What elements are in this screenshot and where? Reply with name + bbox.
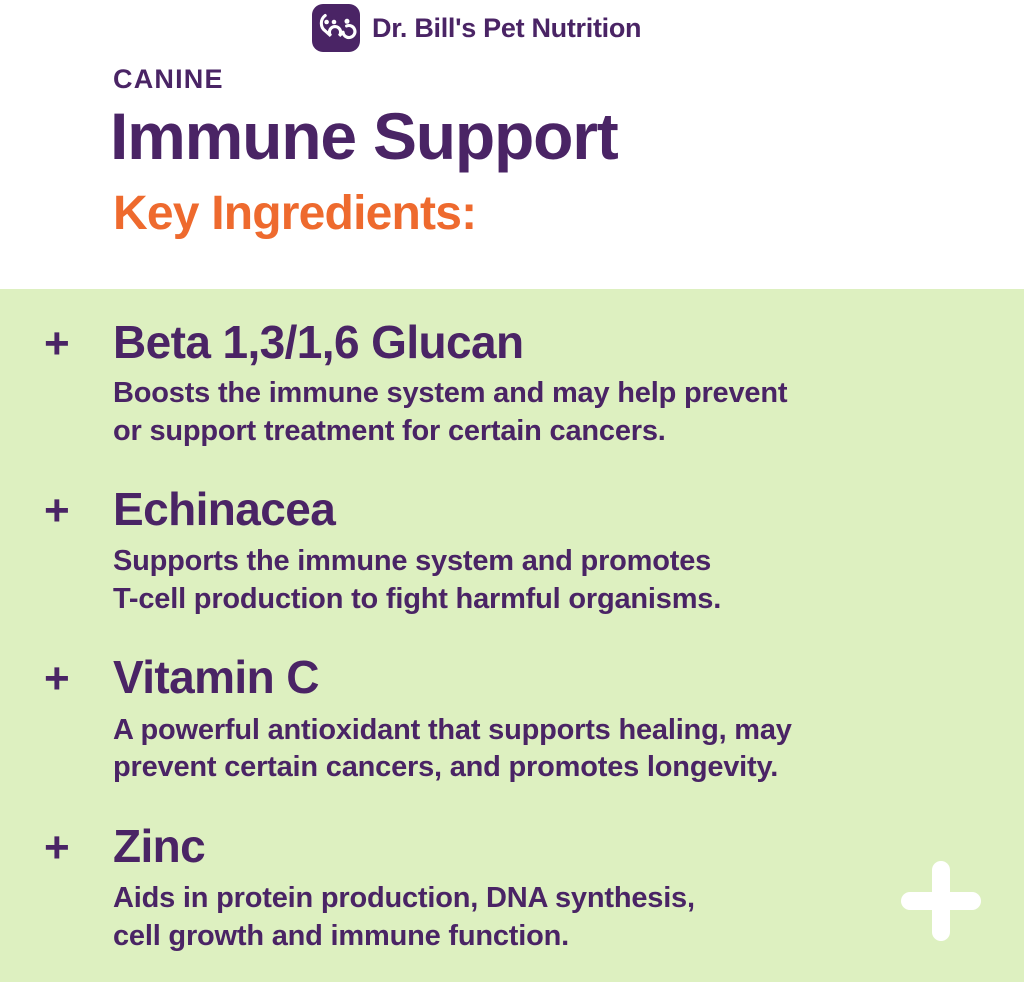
description-line: Aids in protein production, DNA synthesi… bbox=[113, 880, 1013, 918]
header-section: Dr. Bill's Pet Nutrition CANINE Immune S… bbox=[0, 0, 1024, 289]
plus-bullet-icon: + bbox=[44, 826, 88, 870]
description-line: Boosts the immune system and may help pr… bbox=[113, 375, 1013, 413]
ingredient-description: Aids in protein production, DNA synthesi… bbox=[113, 880, 1013, 955]
plus-horizontal-bar bbox=[901, 892, 981, 910]
ingredient-description: Boosts the immune system and may help pr… bbox=[113, 375, 1013, 450]
infographic-page: Dr. Bill's Pet Nutrition CANINE Immune S… bbox=[0, 0, 1024, 982]
description-line: Supports the immune system and promotes bbox=[113, 543, 1013, 581]
plus-bullet-icon: + bbox=[44, 657, 88, 701]
list-item: + Zinc Aids in protein production, DNA s… bbox=[0, 822, 1024, 956]
ingredient-heading-row: + Echinacea bbox=[44, 485, 1024, 533]
plus-bullet-icon: + bbox=[44, 322, 88, 366]
ingredients-panel: + Beta 1,3/1,6 Glucan Boosts the immune … bbox=[0, 289, 1024, 982]
brand-name: Dr. Bill's Pet Nutrition bbox=[372, 15, 641, 42]
ingredient-name: Zinc bbox=[113, 822, 205, 870]
ingredient-name: Beta 1,3/1,6 Glucan bbox=[113, 318, 523, 366]
list-item: + Echinacea Supports the immune system a… bbox=[0, 485, 1024, 619]
section-subtitle: Key Ingredients: bbox=[113, 190, 476, 238]
description-line: prevent certain cancers, and promotes lo… bbox=[113, 749, 1013, 787]
stethoscope-paw-icon bbox=[312, 4, 360, 52]
ingredient-heading-row: + Zinc bbox=[44, 822, 1024, 870]
brand-lockup: Dr. Bill's Pet Nutrition bbox=[312, 4, 641, 52]
list-item: + Beta 1,3/1,6 Glucan Boosts the immune … bbox=[0, 318, 1024, 451]
description-line: A powerful antioxidant that supports hea… bbox=[113, 712, 1013, 750]
eyebrow-label: CANINE bbox=[113, 66, 224, 93]
ingredient-heading-row: + Beta 1,3/1,6 Glucan bbox=[44, 318, 1024, 366]
ingredient-description: Supports the immune system and promotes … bbox=[113, 543, 1013, 618]
page-title: Immune Support bbox=[110, 103, 618, 169]
ingredient-heading-row: + Vitamin C bbox=[44, 653, 1024, 701]
list-item: + Vitamin C A powerful antioxidant that … bbox=[0, 653, 1024, 787]
description-line: cell growth and immune function. bbox=[113, 918, 1013, 956]
plus-bullet-icon: + bbox=[44, 489, 88, 533]
description-line: T-cell production to fight harmful organ… bbox=[113, 581, 1013, 619]
decorative-plus-icon bbox=[901, 861, 981, 941]
ingredient-description: A powerful antioxidant that supports hea… bbox=[113, 712, 1013, 787]
ingredients-list: + Beta 1,3/1,6 Glucan Boosts the immune … bbox=[0, 289, 1024, 962]
description-line: or support treatment for certain cancers… bbox=[113, 413, 1013, 451]
ingredient-name: Echinacea bbox=[113, 485, 335, 533]
ingredient-name: Vitamin C bbox=[113, 653, 319, 701]
